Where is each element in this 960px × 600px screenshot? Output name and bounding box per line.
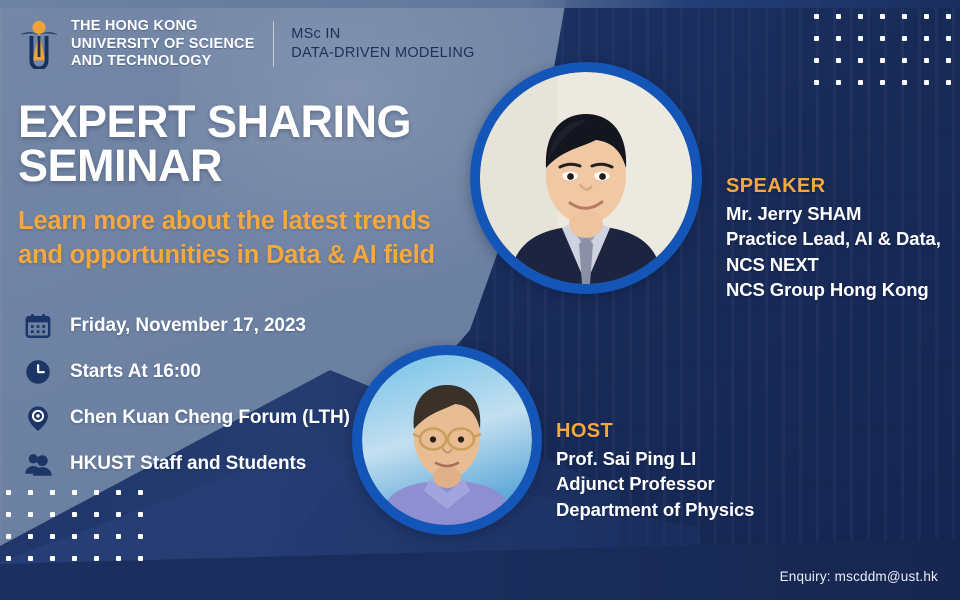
detail-label-time: Starts At 16:00 bbox=[70, 361, 201, 383]
programme-name: MSc IN DATA-DRIVEN MODELING bbox=[291, 25, 475, 63]
detail-label-audience: HKUST Staff and Students bbox=[70, 453, 306, 475]
people-icon bbox=[22, 448, 54, 480]
enquiry-text: Enquiry: mscddm@ust.hk bbox=[780, 569, 938, 584]
host-photo-ring bbox=[352, 345, 542, 535]
hkust-logo-icon bbox=[16, 19, 62, 69]
university-name: THE HONG KONG UNIVERSITY OF SCIENCE AND … bbox=[71, 18, 255, 71]
page-title: EXPERT SHARING SEMINAR bbox=[18, 100, 538, 187]
location-pin-icon bbox=[22, 402, 54, 434]
detail-row-date: Friday, November 17, 2023 bbox=[22, 305, 442, 347]
speaker-photo bbox=[470, 62, 702, 294]
speaker-role-label: SPEAKER bbox=[726, 175, 956, 198]
page-subtitle: Learn more about the latest trends and o… bbox=[18, 205, 518, 272]
host-photo bbox=[352, 345, 542, 535]
host-details: Prof. Sai Ping LI Adjunct Professor Depa… bbox=[556, 446, 886, 522]
detail-label-venue: Chen Kuan Cheng Forum (LTH) bbox=[70, 407, 350, 429]
speaker-photo-ring bbox=[470, 62, 702, 294]
dot-grid-top-right bbox=[814, 14, 950, 100]
host-block: HOST Prof. Sai Ping LI Adjunct Professor… bbox=[556, 420, 886, 522]
clock-icon bbox=[22, 356, 54, 388]
detail-label-date: Friday, November 17, 2023 bbox=[70, 315, 306, 337]
host-role-label: HOST bbox=[556, 420, 886, 443]
event-poster: THE HONG KONG UNIVERSITY OF SCIENCE AND … bbox=[0, 0, 960, 600]
dot-grid-bottom-left bbox=[6, 490, 146, 594]
background-top-band bbox=[0, 0, 960, 8]
calendar-icon bbox=[22, 310, 54, 342]
brand-header: THE HONG KONG UNIVERSITY OF SCIENCE AND … bbox=[16, 18, 475, 71]
speaker-details: Mr. Jerry SHAM Practice Lead, AI & Data,… bbox=[726, 201, 956, 302]
speaker-block: SPEAKER Mr. Jerry SHAM Practice Lead, AI… bbox=[726, 175, 956, 302]
vertical-divider-icon bbox=[273, 21, 275, 67]
